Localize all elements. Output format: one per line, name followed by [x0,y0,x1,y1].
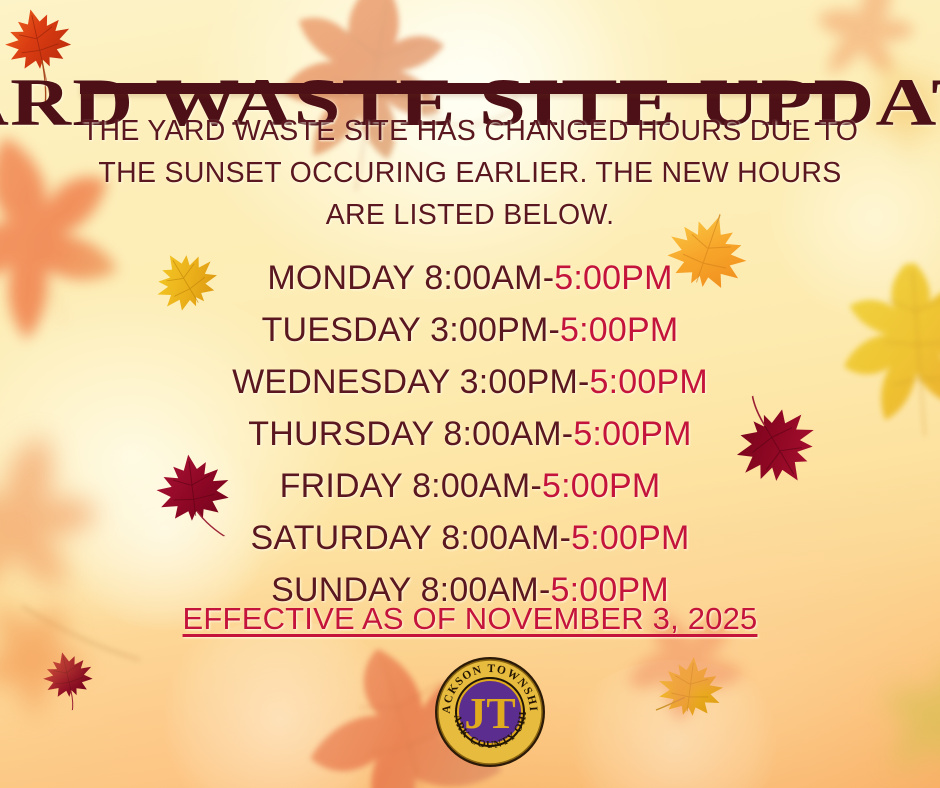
hours-day: THURSDAY [248,415,433,453]
subtitle-line: THE SUNSET OCCURING EARLIER. THE NEW HOU… [62,152,878,194]
hours-day: MONDAY [267,259,414,297]
hours-day: WEDNESDAY [232,363,450,401]
hours-list: MONDAY 8:00AM-5:00PM TUESDAY 3:00PM-5:00… [0,252,940,616]
jackson-township-seal-logo: JACKSON TOWNSHIP STARK COUNTY OHIO JT [434,656,546,768]
hours-close-time: 5:00PM [542,467,660,505]
poster-content: YARD WASTE SITE UPDATE THE YARD WASTE SI… [0,0,940,788]
hours-dash: - [560,519,572,557]
subtitle-block: THE YARD WASTE SITE HAS CHANGED HOURS DU… [62,110,878,236]
hours-row: TUESDAY 3:00PM-5:00PM [0,304,940,356]
yard-waste-update-poster: YARD WASTE SITE UPDATE THE YARD WASTE SI… [0,0,940,788]
hours-dash: - [548,311,560,349]
subtitle-line: ARE LISTED BELOW. [62,194,878,236]
effective-date-notice: EFFECTIVE AS OF NOVEMBER 3, 2025 [0,600,940,638]
hours-dash: - [543,259,555,297]
hours-close-time: 5:00PM [590,363,708,401]
hours-row: THURSDAY 8:00AM-5:00PM [0,408,940,460]
hours-open-time: 8:00AM [441,519,559,557]
seal-monogram: JT [464,689,515,738]
hours-close-time: 5:00PM [560,311,678,349]
hours-close-time: 5:00PM [571,519,689,557]
hours-row: FRIDAY 8:00AM-5:00PM [0,460,940,512]
hours-day: SATURDAY [250,519,431,557]
subtitle-line: THE YARD WASTE SITE HAS CHANGED HOURS DU… [62,110,878,152]
title-underline-rule [80,83,856,94]
hours-day: FRIDAY [280,467,403,505]
hours-open-time: 3:00PM [460,363,578,401]
hours-dash: - [562,415,574,453]
hours-close-time: 5:00PM [573,415,691,453]
hours-row: MONDAY 8:00AM-5:00PM [0,252,940,304]
hours-row: WEDNESDAY 3:00PM-5:00PM [0,356,940,408]
hours-dash: - [578,363,590,401]
hours-open-time: 8:00AM [424,259,542,297]
hours-row: SATURDAY 8:00AM-5:00PM [0,512,940,564]
hours-dash: - [530,467,542,505]
hours-open-time: 8:00AM [412,467,530,505]
hours-open-time: 8:00AM [443,415,561,453]
hours-day: TUESDAY [262,311,421,349]
hours-open-time: 3:00PM [430,311,548,349]
hours-close-time: 5:00PM [554,259,672,297]
